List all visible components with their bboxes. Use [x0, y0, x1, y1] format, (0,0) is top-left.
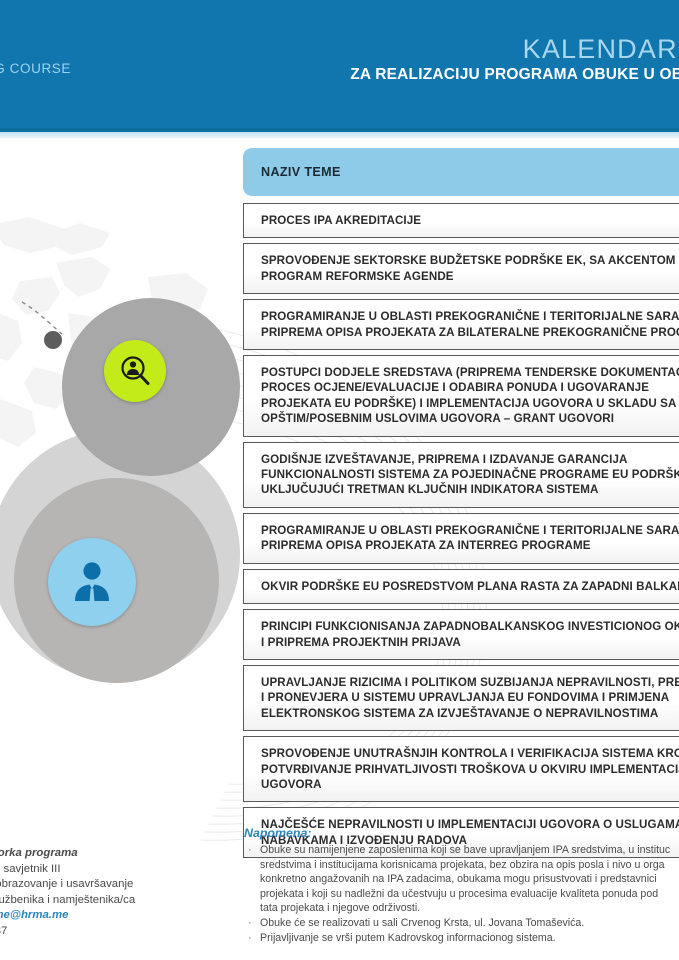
notes-section: Napomena: ·Obuke su namijenjene zaposlen… — [244, 826, 679, 945]
table-header-row: NAZIV TEME — [243, 148, 679, 196]
bullet-icon: · — [244, 916, 260, 931]
topic-name: GODIŠNJE IZVEŠTAVANJE, PRIPREMA I IZDAVA… — [261, 452, 679, 498]
contact-block: Koordinatorka programaSamostalni savjetn… — [0, 846, 204, 940]
businessperson-icon — [66, 556, 118, 608]
bullet-icon: · — [244, 843, 260, 916]
topic-name: OKVIR PODRŠKE EU POSREDSTVOM PLANA RASTA… — [261, 579, 679, 594]
note-item: ·Obuke su namijenjene zaposlenima koji s… — [244, 843, 679, 916]
topic-name: UPRAVLJANJE RIZICIMA I POLITIKOM SUZBIJA… — [261, 675, 679, 721]
note-text: Obuke su namijenjene zaposlenima koji se… — [260, 843, 670, 916]
topics-table: NAZIV TEME PROCES IPA AKREDITACIJESPROVO… — [243, 148, 679, 858]
table-row: SPROVOĐENJE SEKTORSKE BUDŽETSKE PODRŠKE … — [243, 243, 679, 294]
header-rule-light — [0, 132, 679, 138]
topic-name: SPROVOĐENJE SEKTORSKE BUDŽETSKE PODRŠKE … — [261, 253, 679, 284]
topic-name: POSTUPCI DODJELE SREDSTAVA (PRIPREMA TEN… — [261, 365, 679, 427]
bullet-icon: · — [244, 931, 260, 946]
topic-name: PROGRAMIRANJE U OBLASTI PREKOGRANIČNE I … — [261, 309, 679, 340]
note-text: Obuke će se realizovati u sali Crvenog K… — [260, 916, 584, 931]
header-left-label: TRAINING COURSE — [0, 61, 71, 76]
businessperson-badge — [48, 538, 136, 626]
topic-name: PROGRAMIRANJE U OBLASTI PREKOGRANIČNE I … — [261, 523, 679, 554]
table-row: POSTUPCI DODJELE SREDSTAVA (PRIPREMA TEN… — [243, 355, 679, 437]
topic-name: PROCES IPA AKREDITACIJE — [261, 213, 679, 228]
table-row: PROGRAMIRANJE U OBLASTI PREKOGRANIČNE I … — [243, 299, 679, 350]
note-text: Prijavljivanje se vrši putem Kadrovskog … — [260, 931, 556, 946]
contact-line: državnih službenika i namještenika/ca — [0, 893, 204, 909]
contact-role: Koordinatorka programa — [0, 846, 204, 862]
table-body: PROCES IPA AKREDITACIJESPROVOĐENJE SEKTO… — [243, 203, 679, 858]
contact-lines: Koordinatorka programaSamostalni savjetn… — [0, 846, 204, 940]
contact-email: ime.prezime@hrma.me — [0, 908, 204, 924]
table-row: UPRAVLJANJE RIZICIMA I POLITIKOM SUZBIJA… — [243, 665, 679, 731]
table-row: OKVIR PODRŠKE EU POSREDSTVOM PLANA RASTA… — [243, 569, 679, 604]
table-row: PRINCIPI FUNKCIONISANJA ZAPADNOBALKANSKO… — [243, 609, 679, 660]
table-row: PROGRAMIRANJE U OBLASTI PREKOGRANIČNE I … — [243, 513, 679, 564]
notes-title: Napomena: — [244, 826, 679, 840]
topic-name: PRINCIPI FUNKCIONISANJA ZAPADNOBALKANSKO… — [261, 619, 679, 650]
page-subtitle: ZA REALIZACIJU PROGRAMA OBUKE U OBLASTI … — [350, 66, 679, 84]
contact-line: Samostalni savjetnik III — [0, 862, 204, 878]
table-row: SPROVOĐENJE UNUTRAŠNJIH KONTROLA I VERIF… — [243, 736, 679, 802]
decor-dot — [44, 331, 62, 349]
note-item: ·Obuke će se realizovati u sali Crvenog … — [244, 916, 679, 931]
notes-list: ·Obuke su namijenjene zaposlenima koji s… — [244, 843, 679, 945]
column-header-topic-name: NAZIV TEME — [261, 165, 341, 179]
note-item: ·Prijavljivanje se vrši putem Kadrovskog… — [244, 931, 679, 946]
person-search-icon — [118, 354, 152, 388]
contact-line: 020 202 587 — [0, 924, 204, 940]
page-title: KALENDAR OBUKA — [523, 34, 679, 65]
table-row: PROCES IPA AKREDITACIJE — [243, 203, 679, 238]
person-search-badge — [104, 340, 166, 402]
contact-line: Sektor za obrazovanje i usavršavanje — [0, 877, 204, 893]
document-page: TRAINING COURSE KALENDAR OBUKA ZA REALIZ… — [0, 0, 679, 960]
table-row: GODIŠNJE IZVEŠTAVANJE, PRIPREMA I IZDAVA… — [243, 442, 679, 508]
topic-name: SPROVOĐENJE UNUTRAŠNJIH KONTROLA I VERIF… — [261, 746, 679, 792]
